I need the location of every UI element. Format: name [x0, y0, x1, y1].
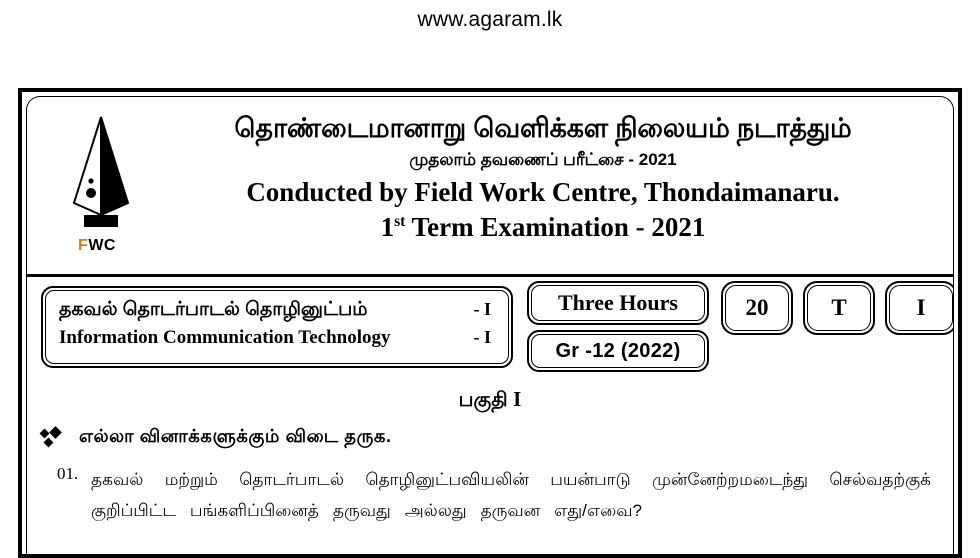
duration-label: Three Hours: [558, 290, 678, 316]
question-word: தகவல்: [91, 464, 143, 495]
subject-box: தகவல் தொடர்பாடல் தொழினுட்பம் - I Informa…: [41, 286, 513, 368]
part-label-roman: I: [513, 387, 521, 411]
question-word: அல்லது: [405, 495, 467, 526]
subject-line-tamil: தகவல் தொடர்பாடல் தொழினுட்பம் - I: [59, 295, 497, 324]
exam-paper-inner-border: FWC தொண்டைமானாறு வெளிக்கள நிலையம் நடாத்த…: [26, 96, 954, 554]
subject-paper-number-english: - I: [457, 327, 497, 348]
subject-name-tamil: தகவல் தொடர்பாடல் தொழினுட்பம்: [59, 295, 368, 324]
logo-label-first-letter: F: [78, 237, 88, 254]
exam-info-row: தகவல் தொடர்பாடல் தொழினுட்பம் - I Informa…: [27, 277, 953, 377]
exam-title-tamil: தொண்டைமானாறு வெளிக்கள நிலையம் நடாத்தும்: [147, 113, 939, 145]
four-diamond-bullet-icon: [41, 428, 65, 450]
question-word: தொடர்பாடல்: [239, 464, 344, 495]
exam-subtitle-tamil: முதலாம் தவணைப் பரீட்சை - 2021: [147, 147, 939, 173]
question-word: குறிப்பிட்ட: [91, 495, 176, 526]
question-word: முன்னேற்றமடைந்து: [652, 464, 808, 495]
exam-code-1: 20: [746, 295, 769, 321]
instruction-line: எல்லா வினாக்களுக்கும் விடை தருக.: [27, 414, 953, 450]
term-ordinal-suffix: st: [394, 213, 405, 230]
masthead: FWC தொண்டைமானாறு வெளிக்கள நிலையம் நடாத்த…: [27, 97, 953, 277]
question-word: செல்வதற்குக்: [829, 464, 931, 495]
logo-label: FWC: [49, 237, 145, 255]
duration-box: Three Hours: [527, 281, 709, 325]
question-word: தருவது: [333, 495, 391, 526]
subject-line-english: Information Communication Technology - I: [59, 324, 497, 353]
subject-name-english: Information Communication Technology: [59, 324, 390, 353]
exam-title-block: தொண்டைமானாறு வெளிக்கள நிலையம் நடாத்தும் …: [147, 113, 939, 245]
fwc-kite-logo-icon: [54, 111, 140, 239]
question-number: 01.: [57, 464, 91, 527]
exam-code-3: I: [917, 295, 926, 321]
instruction-text: எல்லா வினாக்களுக்கும் விடை தருக.: [79, 426, 392, 449]
exam-code-box-1: 20: [721, 281, 793, 335]
question-line-1: தகவல் மற்றும் தொடர்பாடல் தொழினுட்பவியலின…: [91, 464, 931, 495]
institution-logo-block: FWC: [49, 111, 145, 255]
question-text: தகவல் மற்றும் தொடர்பாடல் தொழினுட்பவியலின…: [91, 464, 931, 527]
question-word: தருவன: [481, 495, 541, 526]
question-line-2: குறிப்பிட்ட பங்களிப்பினைத் தருவது அல்லது…: [91, 495, 931, 526]
site-url-watermark: www.agaram.lk: [0, 0, 980, 30]
logo-label-rest: WC: [88, 237, 116, 254]
exam-term-english: 1st Term Examination - 2021: [147, 211, 939, 245]
question-word: தொழினுட்பவியலின்: [365, 464, 529, 495]
question-item: 01. தகவல் மற்றும் தொடர்பாடல் தொழினுட்பவி…: [27, 450, 953, 527]
exam-title-english: Conducted by Field Work Centre, Thondaim…: [147, 176, 939, 210]
exam-paper-frame: FWC தொண்டைமானாறு வெளிக்கள நிலையம் நடாத்த…: [18, 88, 962, 558]
term-number: 1: [381, 212, 395, 242]
part-heading: பகுதி I: [27, 387, 953, 414]
exam-code-box-2: T: [803, 281, 875, 335]
term-rest: Term Examination - 2021: [405, 212, 705, 242]
question-word: மற்றும்: [165, 464, 218, 495]
grade-box: Gr -12 (2022): [527, 330, 709, 372]
exam-code-2: T: [831, 295, 846, 321]
exam-code-box-3: I: [885, 281, 954, 335]
question-word: பங்களிப்பினைத்: [190, 495, 319, 526]
question-word: எது/எவை?: [554, 495, 642, 526]
subject-paper-number-tamil: - I: [457, 299, 497, 320]
part-label-tamil: பகுதி: [459, 389, 508, 411]
grade-label: Gr -12 (2022): [555, 340, 680, 363]
question-word: பயன்பாடு: [550, 464, 630, 495]
